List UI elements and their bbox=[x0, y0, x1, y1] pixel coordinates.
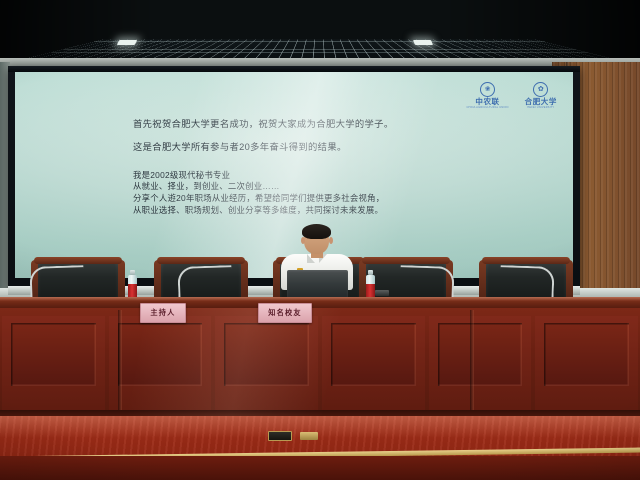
slide-headline-line: 这是合肥大学所有参与者20多年奋斗得到的结果。 bbox=[133, 143, 533, 153]
slide-body-block: 我是2002级现代秘书专业 从就业、择业，到创业、二次创业…… 分享个人逰20年… bbox=[133, 170, 533, 218]
floor-socket-plate bbox=[268, 431, 292, 441]
bottle-label bbox=[366, 284, 375, 297]
slide-body-line: 我是2002级现代秘书专业 bbox=[133, 170, 533, 182]
logo-mark-icon: ❀ bbox=[480, 82, 495, 97]
panel-inset bbox=[11, 323, 96, 386]
logo-mark-icon: ✿ bbox=[533, 82, 548, 97]
logo-china-agricultural-union: ❀ 中农联 CHINA AGRICULTURAL UNION bbox=[466, 82, 508, 109]
logo-name: 中农联 bbox=[475, 98, 499, 106]
panel-inset bbox=[331, 323, 416, 386]
gooseneck-microphone bbox=[400, 262, 454, 302]
table-panel-divider bbox=[118, 310, 122, 410]
ceiling-light bbox=[117, 40, 137, 45]
panel-inset bbox=[438, 323, 523, 386]
stage-front-face bbox=[0, 456, 640, 480]
panel-inset bbox=[224, 323, 309, 386]
desk-device bbox=[375, 290, 389, 296]
table-panel bbox=[2, 316, 105, 410]
table-panel-row bbox=[0, 316, 640, 410]
bottle-cap bbox=[368, 270, 373, 275]
slide-logos: ❀ 中农联 CHINA AGRICULTURAL UNION ✿ 合肥大学 HE… bbox=[466, 82, 557, 109]
table-panel-divider bbox=[470, 310, 474, 410]
table-panel bbox=[535, 316, 638, 410]
logo-name: 合肥大学 bbox=[525, 98, 557, 106]
ceiling-light bbox=[413, 40, 433, 45]
speaker-hair bbox=[302, 224, 331, 239]
bottle-label bbox=[128, 284, 137, 297]
logo-hefei-university: ✿ 合肥大学 HEFEI UNIVERSITY bbox=[525, 82, 557, 109]
ceiling-grid bbox=[0, 0, 640, 62]
gooseneck-microphone bbox=[500, 262, 554, 302]
slide-headline-line: 首先祝贺合肥大学更名成功，祝贺大家成为合肥大学的学子。 bbox=[133, 120, 533, 130]
table-panel bbox=[215, 316, 318, 410]
nameplate-host: 主持人 bbox=[140, 303, 186, 323]
floor-reflection bbox=[0, 416, 640, 438]
speaker-ear bbox=[329, 237, 333, 244]
gooseneck-microphone bbox=[30, 262, 84, 302]
table-top-highlight bbox=[0, 297, 640, 301]
nameplate-alumnus: 知名校友 bbox=[258, 303, 312, 323]
slide-text-block: 首先祝贺合肥大学更名成功，祝贺大家成为合肥大学的学子。 这是合肥大学所有参与者2… bbox=[133, 120, 533, 217]
gooseneck-microphone bbox=[178, 262, 232, 302]
bottle-cap bbox=[130, 270, 135, 275]
photo-scene: ❀ 中农联 CHINA AGRICULTURAL UNION ✿ 合肥大学 HE… bbox=[0, 0, 640, 480]
laptop-lid bbox=[287, 270, 348, 299]
logo-subtitle: CHINA AGRICULTURAL UNION bbox=[466, 107, 508, 109]
ceiling-shadow-right bbox=[450, 0, 640, 62]
nameplate-text: 知名校友 bbox=[268, 308, 302, 318]
nameplate-text: 主持人 bbox=[150, 308, 175, 318]
table-panel bbox=[429, 316, 532, 410]
logo-subtitle: HEFEI UNIVERSITY bbox=[527, 107, 554, 109]
speaker-ear bbox=[301, 237, 305, 244]
panel-inset bbox=[118, 323, 203, 386]
floor-brass-plate bbox=[300, 432, 318, 440]
table-panel bbox=[109, 316, 212, 410]
slide-body-line: 分享个人逰20年职场从业经历，希望给同学们提供更多社会视角， bbox=[133, 193, 533, 205]
panel-inset bbox=[544, 323, 629, 386]
table-panel bbox=[322, 316, 425, 410]
ceiling-shadow-left bbox=[0, 0, 150, 62]
slide-body-line: 从就业、择业，到创业、二次创业…… bbox=[133, 181, 533, 193]
slide-body-line: 从职业选择、职场规划、创业分享等多维度，共同探讨未来发展。 bbox=[133, 205, 533, 217]
